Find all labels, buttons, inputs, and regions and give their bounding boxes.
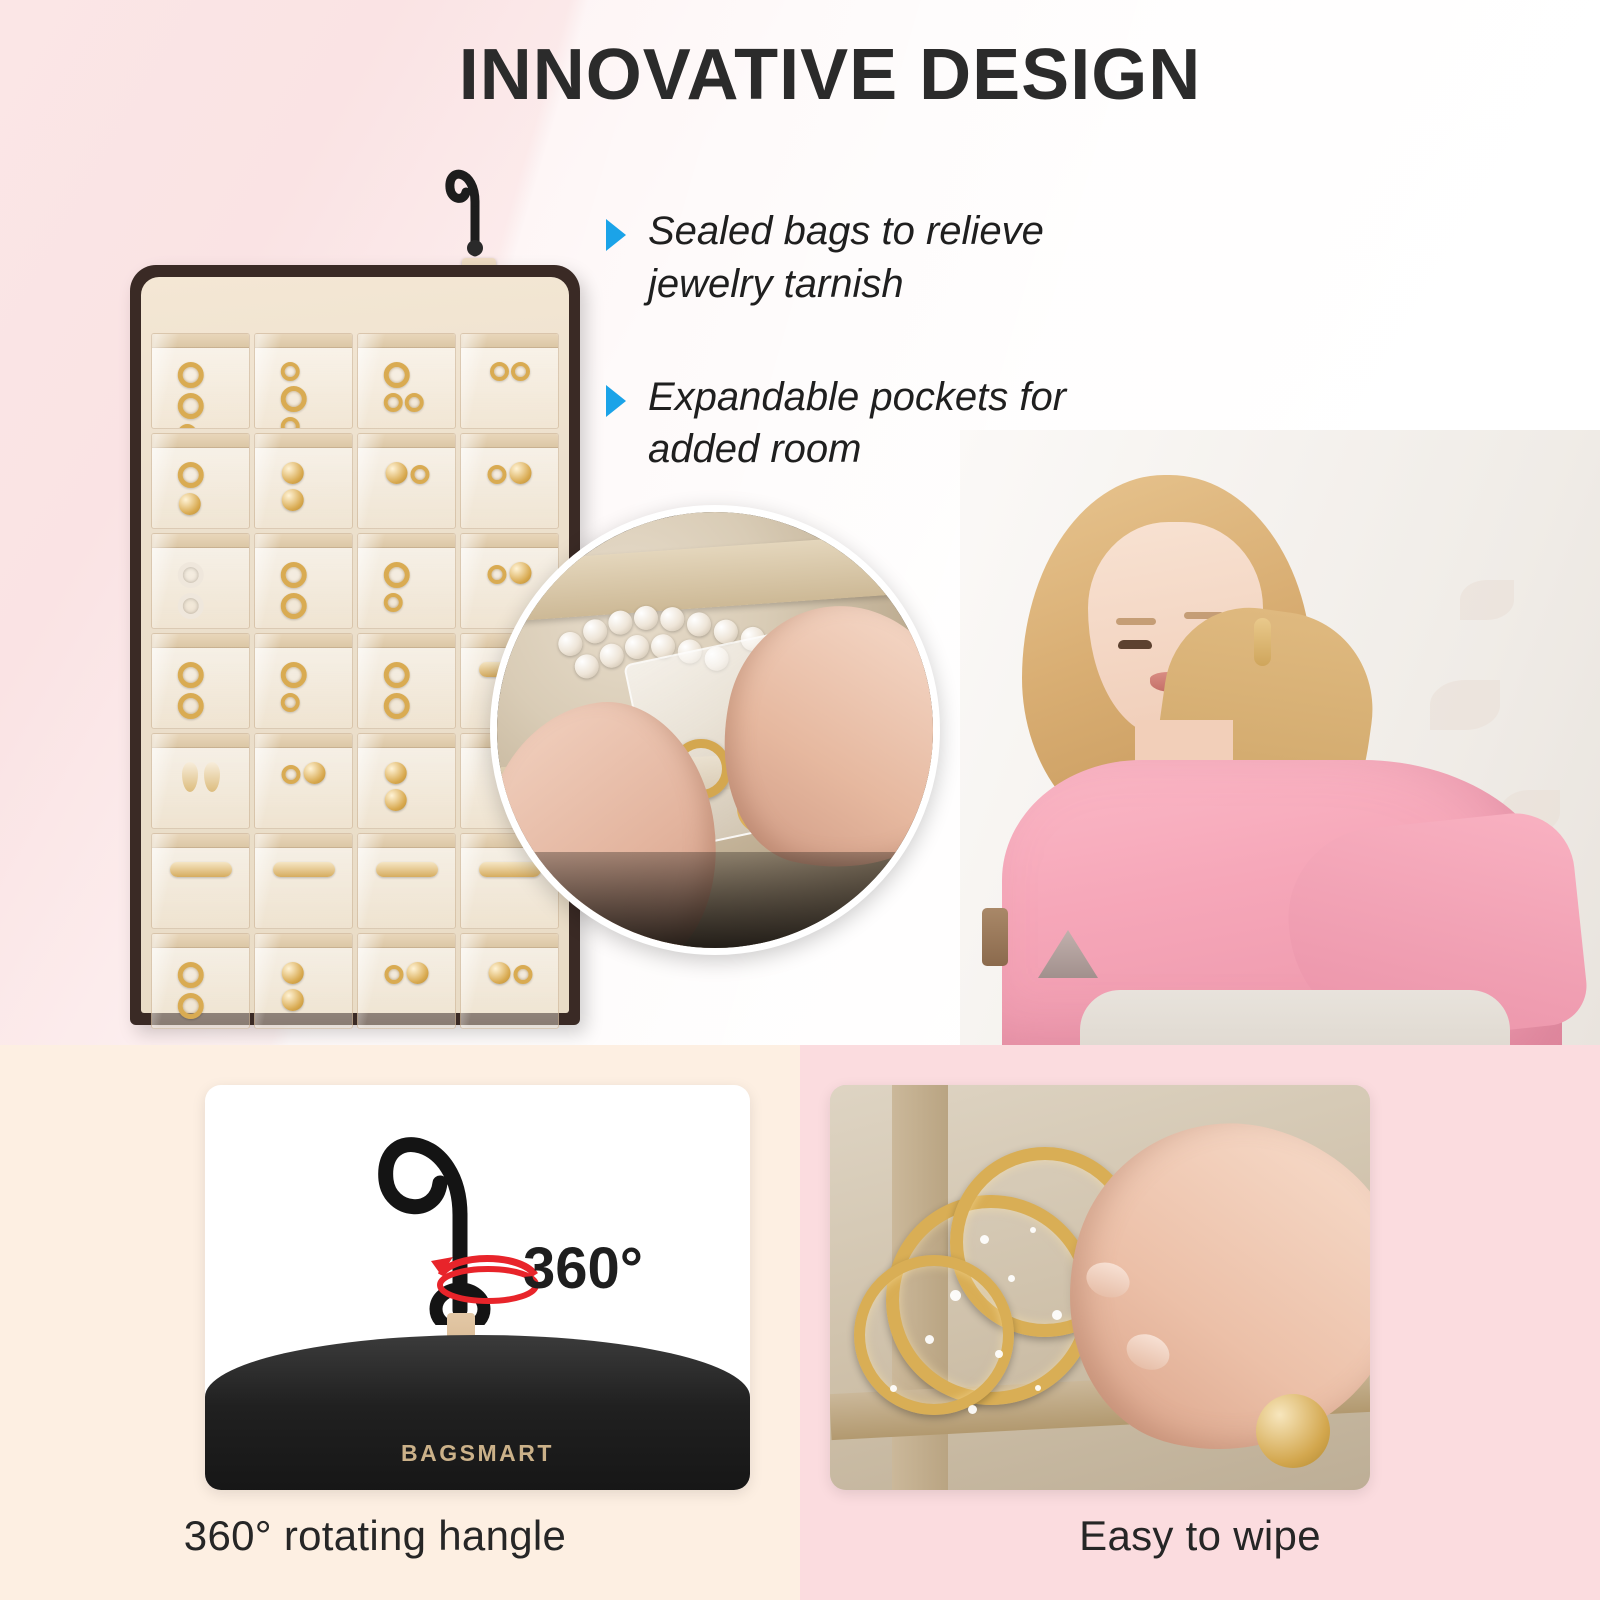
pocket [357, 333, 456, 429]
reed-diffuser [982, 908, 1008, 966]
pocket [151, 533, 250, 629]
model-photo [960, 430, 1600, 1045]
rotation-callout: 360° [523, 1235, 643, 1302]
pocket [151, 433, 250, 529]
pocket [357, 733, 456, 829]
pocket [151, 933, 250, 1029]
feature-item: Sealed bags to relieve jewelry tarnish [600, 205, 1160, 311]
feature-text: Sealed bags to relieve jewelry tarnish [648, 205, 1160, 311]
pocket [151, 333, 250, 429]
easy-to-wipe-card [830, 1085, 1370, 1490]
bottom-right-caption: Easy to wipe [800, 1512, 1600, 1560]
pocket [254, 633, 353, 729]
pocket [357, 633, 456, 729]
earring [1254, 618, 1271, 666]
pocket [151, 833, 250, 929]
page-title: INNOVATIVE DESIGN [330, 38, 1330, 114]
chevron-right-icon [600, 381, 634, 421]
sealed-bag-closeup-photo [490, 505, 940, 955]
pocket [357, 533, 456, 629]
pocket [254, 333, 353, 429]
top-hero-panel: INNOVATIVE DESIGN [0, 0, 1600, 1045]
pocket [357, 833, 456, 929]
pocket [254, 533, 353, 629]
bottom-left-caption: 360° rotating hangle [0, 1512, 775, 1560]
pocket [460, 333, 559, 429]
pocket [254, 433, 353, 529]
rotating-hook-icon [440, 148, 510, 258]
rotating-hook-card: 360° BAGSMART [205, 1085, 750, 1490]
pocket [254, 833, 353, 929]
chevron-right-icon [600, 215, 634, 255]
pocket [254, 733, 353, 829]
gold-bangle [854, 1255, 1014, 1415]
pocket [151, 733, 250, 829]
pocket [151, 633, 250, 729]
brand-logo: BAGSMART [205, 1440, 750, 1467]
pocket [357, 933, 456, 1029]
pocket [254, 933, 353, 1029]
gold-charm [1256, 1394, 1330, 1468]
pocket [357, 433, 456, 529]
